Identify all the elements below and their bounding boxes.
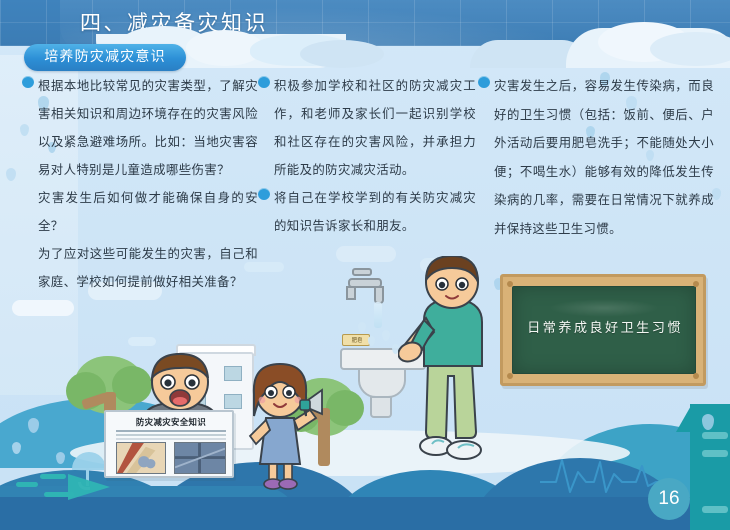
cloud-shape: [12, 300, 74, 316]
tab-line-2: [702, 450, 728, 457]
poster-page: 16: [0, 0, 730, 530]
character-student: [236, 360, 324, 490]
soap-bar: 肥皂: [342, 334, 370, 346]
section-badge: 培养防灾减灾意识: [24, 44, 186, 71]
blackboard: 日常养成良好卫生习惯: [500, 274, 706, 386]
blackboard-corner-tack: [507, 281, 513, 287]
bullet-icon: [478, 76, 490, 88]
poster-image-building: [174, 442, 226, 474]
water-stream: [374, 302, 382, 328]
plane-trail-1: [16, 482, 38, 487]
bullet-icon: [258, 188, 270, 200]
faucet-knob: [352, 268, 372, 276]
tab-line-1: [702, 432, 728, 439]
cloud-shape: [128, 337, 156, 346]
plane-trail-2: [40, 474, 66, 479]
blackboard-text: 日常养成良好卫生习惯: [513, 317, 697, 336]
sink-pedestal: [370, 396, 392, 418]
paragraph: 积极参加学校和社区的防灾减灾工作，和老师及家长们一起识别学校和社区存在的灾害风险…: [258, 72, 476, 184]
paragraph: 为了应对这些可能发生的灾害，自己和家庭、学校如何提前做好相关准备？: [22, 240, 258, 296]
paragraph: 将自己在学校学到的有关防灾减灾的知识告诉家长和朋友。: [258, 184, 476, 240]
blackboard-chalk-smudge: [549, 299, 659, 317]
safety-poster-board: 防灾减灾安全知识: [104, 410, 234, 478]
paragraph-text: 积极参加学校和社区的防灾减灾工作，和老师及家长们一起识别学校和社区存在的灾害风险…: [274, 72, 476, 184]
blackboard-surface: 日常养成良好卫生习惯: [512, 286, 696, 374]
blackboard-corner-tack: [693, 281, 699, 287]
text-column-left: 根据本地比较常见的灾害类型，了解灾害相关知识和周边环境存在的灾害风险以及紧急避难…: [22, 72, 258, 296]
poster-image-stairs: [116, 442, 166, 474]
tab-line-3: [702, 506, 728, 513]
paragraph-text: 将自己在学校学到的有关防灾减灾的知识告诉家长和朋友。: [274, 184, 476, 240]
paper-plane-icon: [68, 474, 110, 500]
character-handwashing: [398, 256, 502, 468]
paragraph-text: 为了应对这些可能发生的灾害，自己和家庭、学校如何提前做好相关准备？: [38, 240, 258, 296]
water-band: [0, 497, 730, 530]
paragraph-text: 灾害发生之后，容易发生传染病，而良好的卫生习惯（包括：饭前、便后、户外活动后要用…: [494, 72, 714, 243]
paragraph: 根据本地比较常见的灾害类型，了解灾害相关知识和周边环境存在的灾害风险以及紧急避难…: [22, 72, 258, 184]
page-number: 16: [648, 478, 690, 520]
bullet-icon: [258, 76, 270, 88]
text-column-middle: 积极参加学校和社区的防灾减灾工作，和老师及家长们一起识别学校和社区存在的灾害风险…: [258, 72, 476, 240]
text-column-right: 灾害发生之后，容易发生传染病，而良好的卫生习惯（包括：饭前、便后、户外活动后要用…: [478, 72, 714, 243]
blackboard-corner-tack: [693, 373, 699, 379]
cloud-shape: [336, 246, 396, 262]
paragraph-text: 灾害发生后如何做才能确保自身的安全？: [38, 184, 258, 240]
paragraph: 灾害发生后如何做才能确保自身的安全？: [22, 184, 258, 240]
paragraph: 灾害发生之后，容易发生传染病，而良好的卫生习惯（包括：饭前、便后、户外活动后要用…: [478, 72, 714, 243]
blackboard-corner-tack: [507, 373, 513, 379]
paragraph-text: 根据本地比较常见的灾害类型，了解灾害相关知识和周边环境存在的灾害风险以及紧急避难…: [38, 72, 258, 184]
bullet-icon: [22, 76, 34, 88]
poster-title: 防灾减灾安全知识: [106, 416, 236, 428]
faucet-column: [346, 286, 356, 300]
soap-label: 肥皂: [343, 336, 371, 344]
cloud-shape: [300, 40, 384, 68]
